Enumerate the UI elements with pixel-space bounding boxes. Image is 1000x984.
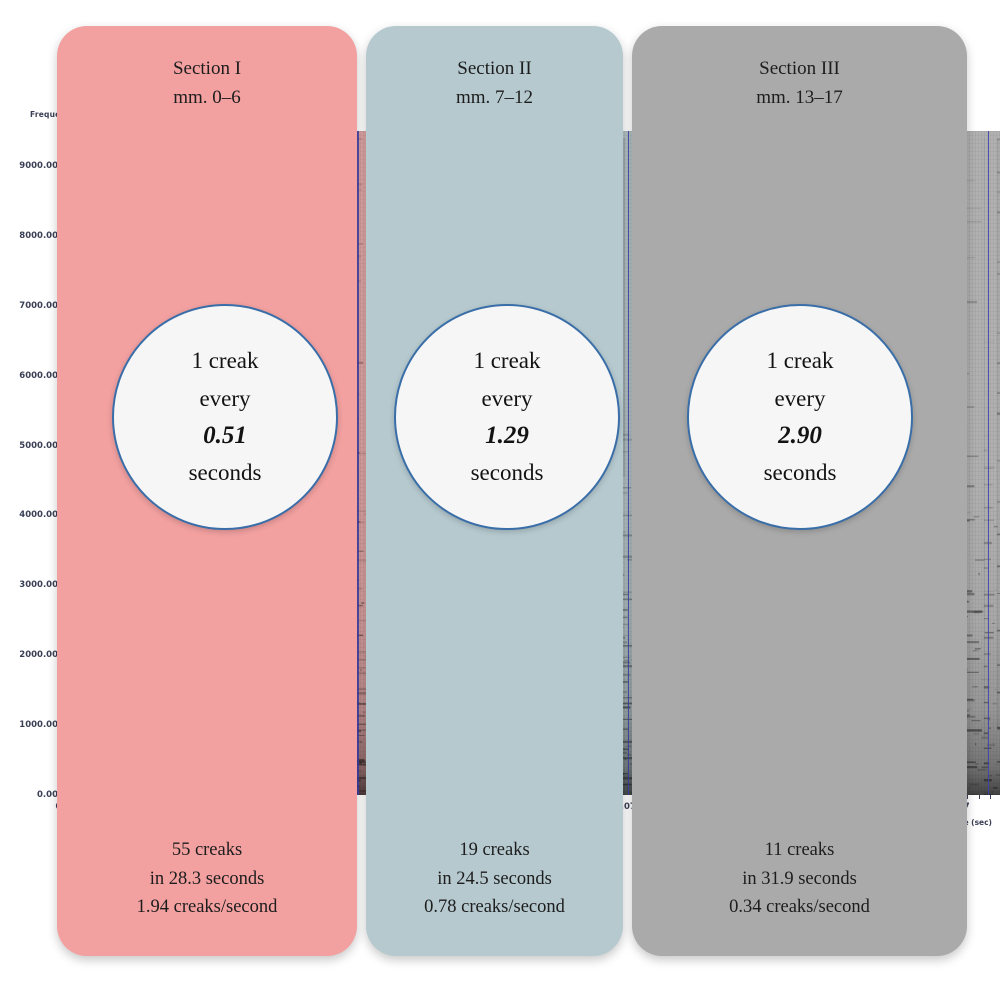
circle-line-4: seconds (471, 454, 544, 491)
section-measures: mm. 13–17 (632, 83, 967, 112)
circle-line-4: seconds (189, 454, 262, 491)
circle-value: 0.51 (203, 417, 247, 455)
circle-line-2: every (199, 380, 250, 417)
circle-line-2: every (481, 380, 532, 417)
stat-creak-count: 55 creaks (57, 836, 357, 865)
x-tick-minor (967, 795, 968, 799)
y-axis-ticks: 0.001000.002000.003000.004000.005000.006… (0, 131, 58, 795)
section-stats-1: 55 creaksin 28.3 seconds1.94 creaks/seco… (57, 836, 357, 922)
y-tick-label: 5000.00 (19, 441, 58, 451)
creak-line (988, 131, 989, 795)
stat-duration: in 24.5 seconds (366, 865, 623, 894)
circle-line-2: every (774, 380, 825, 417)
y-tick-label: 8000.00 (19, 231, 58, 241)
creak-rate-circle-2[interactable]: 1 creakevery1.29seconds (394, 304, 620, 530)
y-tick-label: 7000.00 (19, 301, 58, 311)
y-tick-label: 3000.00 (19, 580, 58, 590)
circle-line-1: 1 creak (191, 342, 258, 379)
section-stats-3: 11 creaksin 31.9 seconds0.34 creaks/seco… (632, 836, 967, 922)
y-tick-label: 6000.00 (19, 371, 58, 381)
stat-duration: in 28.3 seconds (57, 865, 357, 894)
stat-rate: 1.94 creaks/second (57, 893, 357, 922)
creak-rate-circle-1[interactable]: 1 creakevery0.51seconds (112, 304, 338, 530)
section-heading-3: Section IIImm. 13–17 (632, 54, 967, 113)
x-tick-minor (990, 795, 991, 799)
creak-line (628, 131, 629, 795)
circle-line-1: 1 creak (473, 342, 540, 379)
stat-rate: 0.78 creaks/second (366, 893, 623, 922)
stat-creak-count: 19 creaks (366, 836, 623, 865)
circle-value: 1.29 (485, 417, 529, 455)
stat-duration: in 31.9 seconds (632, 865, 967, 894)
stat-creak-count: 11 creaks (632, 836, 967, 865)
y-tick-label: 1000.00 (19, 720, 58, 730)
section-heading-2: Section IImm. 7–12 (366, 54, 623, 113)
y-tick-label: 4000.00 (19, 510, 58, 520)
section-stats-2: 19 creaksin 24.5 seconds0.78 creaks/seco… (366, 836, 623, 922)
section-measures: mm. 7–12 (366, 83, 623, 112)
x-tick-minor (979, 795, 980, 799)
section-heading-1: Section Imm. 0–6 (57, 54, 357, 113)
y-tick-label: 9000.00 (19, 161, 58, 171)
section-title: Section II (366, 54, 623, 83)
y-tick-label: 2000.00 (19, 650, 58, 660)
circle-line-1: 1 creak (766, 342, 833, 379)
creak-rate-circle-3[interactable]: 1 creakevery2.90seconds (687, 304, 913, 530)
section-measures: mm. 0–6 (57, 83, 357, 112)
section-title: Section I (57, 54, 357, 83)
stat-rate: 0.34 creaks/second (632, 893, 967, 922)
figure-root: Frequency (Hz) Time (sec) 0.001000.00200… (0, 0, 1000, 984)
circle-value: 2.90 (778, 417, 822, 455)
creak-line (357, 131, 359, 795)
circle-line-4: seconds (764, 454, 837, 491)
y-tick-label: 0.00 (37, 790, 58, 800)
section-title: Section III (632, 54, 967, 83)
